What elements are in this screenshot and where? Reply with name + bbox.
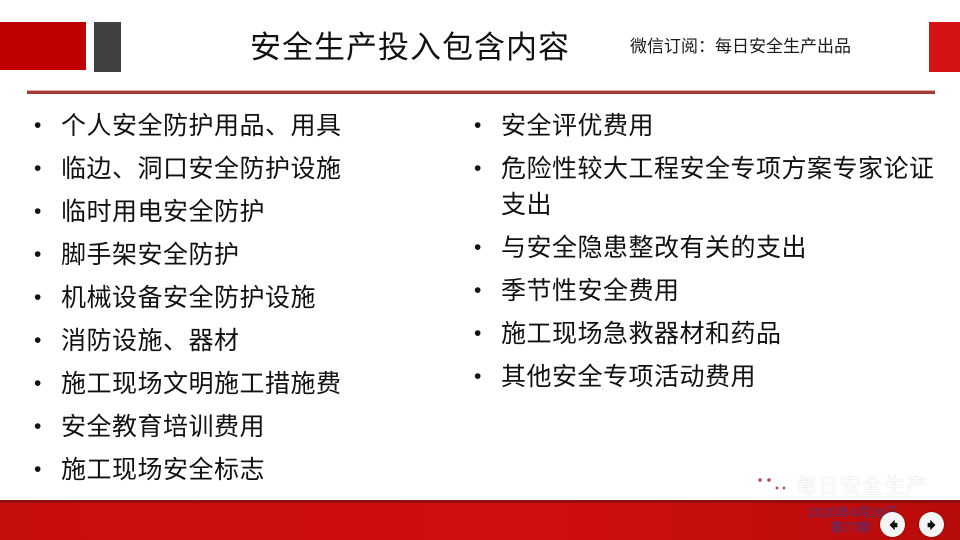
list-item: • 施工现场急救器材和药品 <box>468 316 938 352</box>
header-red-block-right <box>929 22 960 72</box>
list-item: • 其他安全专项活动费用 <box>468 359 938 395</box>
slide-canvas: 安全生产投入包含内容 微信订阅：每日安全生产出品 • 个人安全防护用品、用具 •… <box>0 0 960 540</box>
bullet-icon: • <box>28 108 61 144</box>
list-item: • 施工现场安全标志 <box>28 452 468 488</box>
bullet-icon: • <box>28 409 61 445</box>
next-slide-button[interactable] <box>919 512 944 537</box>
list-item: • 与安全隐患整改有关的支出 <box>468 230 938 266</box>
list-item: • 危险性较大工程安全专项方案专家论证支出 <box>468 151 938 223</box>
page-title: 安全生产投入包含内容 <box>200 22 620 74</box>
bullet-icon: • <box>468 151 501 187</box>
arrow-right-icon <box>925 518 939 532</box>
list-item-label: 个人安全防护用品、用具 <box>61 108 468 144</box>
bullet-icon: • <box>468 316 501 352</box>
bullet-icon: • <box>28 366 61 402</box>
previous-slide-button[interactable] <box>880 512 905 537</box>
list-item-label: 临时用电安全防护 <box>61 194 468 230</box>
list-item: • 安全评优费用 <box>468 108 938 144</box>
footer-bar <box>0 500 960 540</box>
list-item-label: 施工现场安全标志 <box>61 452 468 488</box>
list-item-label: 安全评优费用 <box>501 108 938 144</box>
bullet-icon: • <box>28 280 61 316</box>
bullet-icon: • <box>28 452 61 488</box>
list-item: • 个人安全防护用品、用具 <box>28 108 468 144</box>
footer-bar-top-edge <box>0 500 960 503</box>
list-item-label: 季节性安全费用 <box>501 273 938 309</box>
list-item: • 临时用电安全防护 <box>28 194 468 230</box>
bullet-icon: • <box>28 237 61 273</box>
bullet-icon: • <box>468 273 501 309</box>
list-item-label: 临边、洞口安全防护设施 <box>61 151 468 187</box>
list-item-label: 施工现场文明施工措施费 <box>61 366 468 402</box>
list-item-label: 危险性较大工程安全专项方案专家论证支出 <box>501 151 938 223</box>
list-item: • 施工现场文明施工措施费 <box>28 366 468 402</box>
subscribe-note: 微信订阅：每日安全生产出品 <box>630 32 851 57</box>
bullet-icon: • <box>468 108 501 144</box>
bullet-icon: • <box>468 230 501 266</box>
arrow-left-icon <box>886 518 900 532</box>
list-item: • 临边、洞口安全防护设施 <box>28 151 468 187</box>
list-item: • 安全教育培训费用 <box>28 409 468 445</box>
bullet-list-right: • 安全评优费用 • 危险性较大工程安全专项方案专家论证支出 • 与安全隐患整改… <box>468 108 938 402</box>
header-red-block-left <box>0 22 86 70</box>
list-item: • 脚手架安全防护 <box>28 237 468 273</box>
list-item-label: 安全教育培训费用 <box>61 409 468 445</box>
list-item-label: 与安全隐患整改有关的支出 <box>501 230 938 266</box>
list-item-label: 消防设施、器材 <box>61 323 468 359</box>
bullet-icon: • <box>28 194 61 230</box>
content-columns: • 个人安全防护用品、用具 • 临边、洞口安全防护设施 • 临时用电安全防护 •… <box>0 108 960 500</box>
bullet-icon: • <box>28 151 61 187</box>
bullet-icon: • <box>468 359 501 395</box>
list-item-label: 其他安全专项活动费用 <box>501 359 938 395</box>
list-item-label: 施工现场急救器材和药品 <box>501 316 938 352</box>
bullet-icon: • <box>28 323 61 359</box>
header-gray-block-left <box>94 22 121 72</box>
list-item: • 季节性安全费用 <box>468 273 938 309</box>
bullet-list-left: • 个人安全防护用品、用具 • 临边、洞口安全防护设施 • 临时用电安全防护 •… <box>28 108 468 495</box>
list-item-label: 脚手架安全防护 <box>61 237 468 273</box>
list-item-label: 机械设备安全防护设施 <box>61 280 468 316</box>
list-item: • 机械设备安全防护设施 <box>28 280 468 316</box>
list-item: • 消防设施、器材 <box>28 323 468 359</box>
header-divider <box>27 90 935 94</box>
